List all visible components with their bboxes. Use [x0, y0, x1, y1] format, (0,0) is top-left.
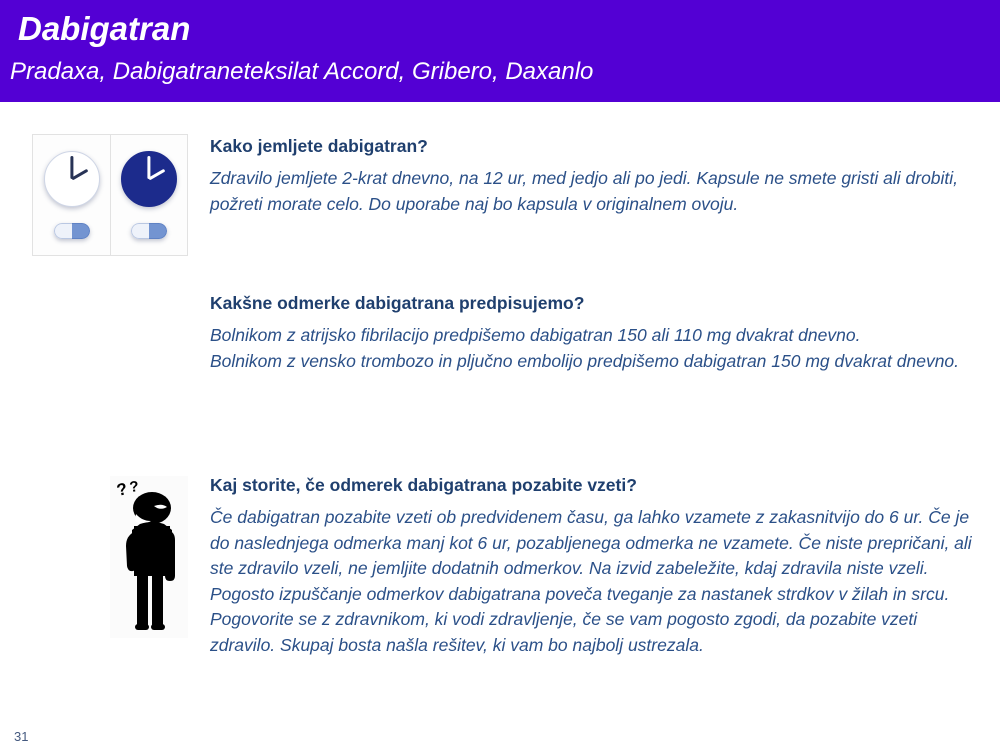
section-how-to-take: Kako jemljete dabigatran? Zdravilo jemlj…: [210, 135, 978, 217]
slide-page-number: 31: [14, 729, 28, 745]
capsule-right-half: [149, 223, 167, 239]
clock-dark-icon: [121, 151, 177, 207]
brand-names-subtitle: Pradaxa, Dabigatraneteksilat Accord, Gri…: [10, 57, 593, 87]
capsule-icon: [54, 223, 90, 239]
capsule-icon: [131, 223, 167, 239]
section-heading: Kaj storite, če odmerek dabigatrana poza…: [210, 474, 985, 496]
dosing-schedule-illustration: [32, 134, 189, 256]
page-title: Dabigatran: [18, 9, 190, 49]
section-missed-dose: Kaj storite, če odmerek dabigatrana poza…: [210, 474, 985, 658]
clock-light-icon: [44, 151, 100, 207]
svg-text:?: ?: [129, 478, 140, 496]
section-paragraph: Bolnikom z vensko trombozo in pljučno em…: [210, 349, 978, 375]
clock-hour-hand-icon: [148, 169, 165, 181]
section-prescribed-doses: Kakšne odmerke dabigatrana predpisujemo?…: [210, 292, 978, 374]
section-paragraph: Če dabigatran pozabite vzeti ob predvide…: [210, 505, 985, 658]
clock-hour-hand-icon: [71, 169, 88, 181]
slide-header: Dabigatran Pradaxa, Dabigatraneteksilat …: [0, 0, 1000, 102]
section-heading: Kako jemljete dabigatran?: [210, 135, 978, 157]
thinking-person-icon: ? ?: [110, 476, 188, 638]
section-paragraph: Bolnikom z atrijsko fibrilacijo predpiše…: [210, 323, 978, 349]
nighttime-dose-panel: [110, 134, 188, 256]
section-heading: Kakšne odmerke dabigatrana predpisujemo?: [210, 292, 978, 314]
daytime-dose-panel: [32, 134, 110, 256]
slide-content: Kako jemljete dabigatran? Zdravilo jemlj…: [0, 102, 1000, 750]
capsule-left-half: [131, 223, 149, 239]
capsule-right-half: [72, 223, 90, 239]
capsule-left-half: [54, 223, 72, 239]
svg-text:?: ?: [115, 479, 129, 500]
section-paragraph: Zdravilo jemljete 2-krat dnevno, na 12 u…: [210, 166, 978, 217]
